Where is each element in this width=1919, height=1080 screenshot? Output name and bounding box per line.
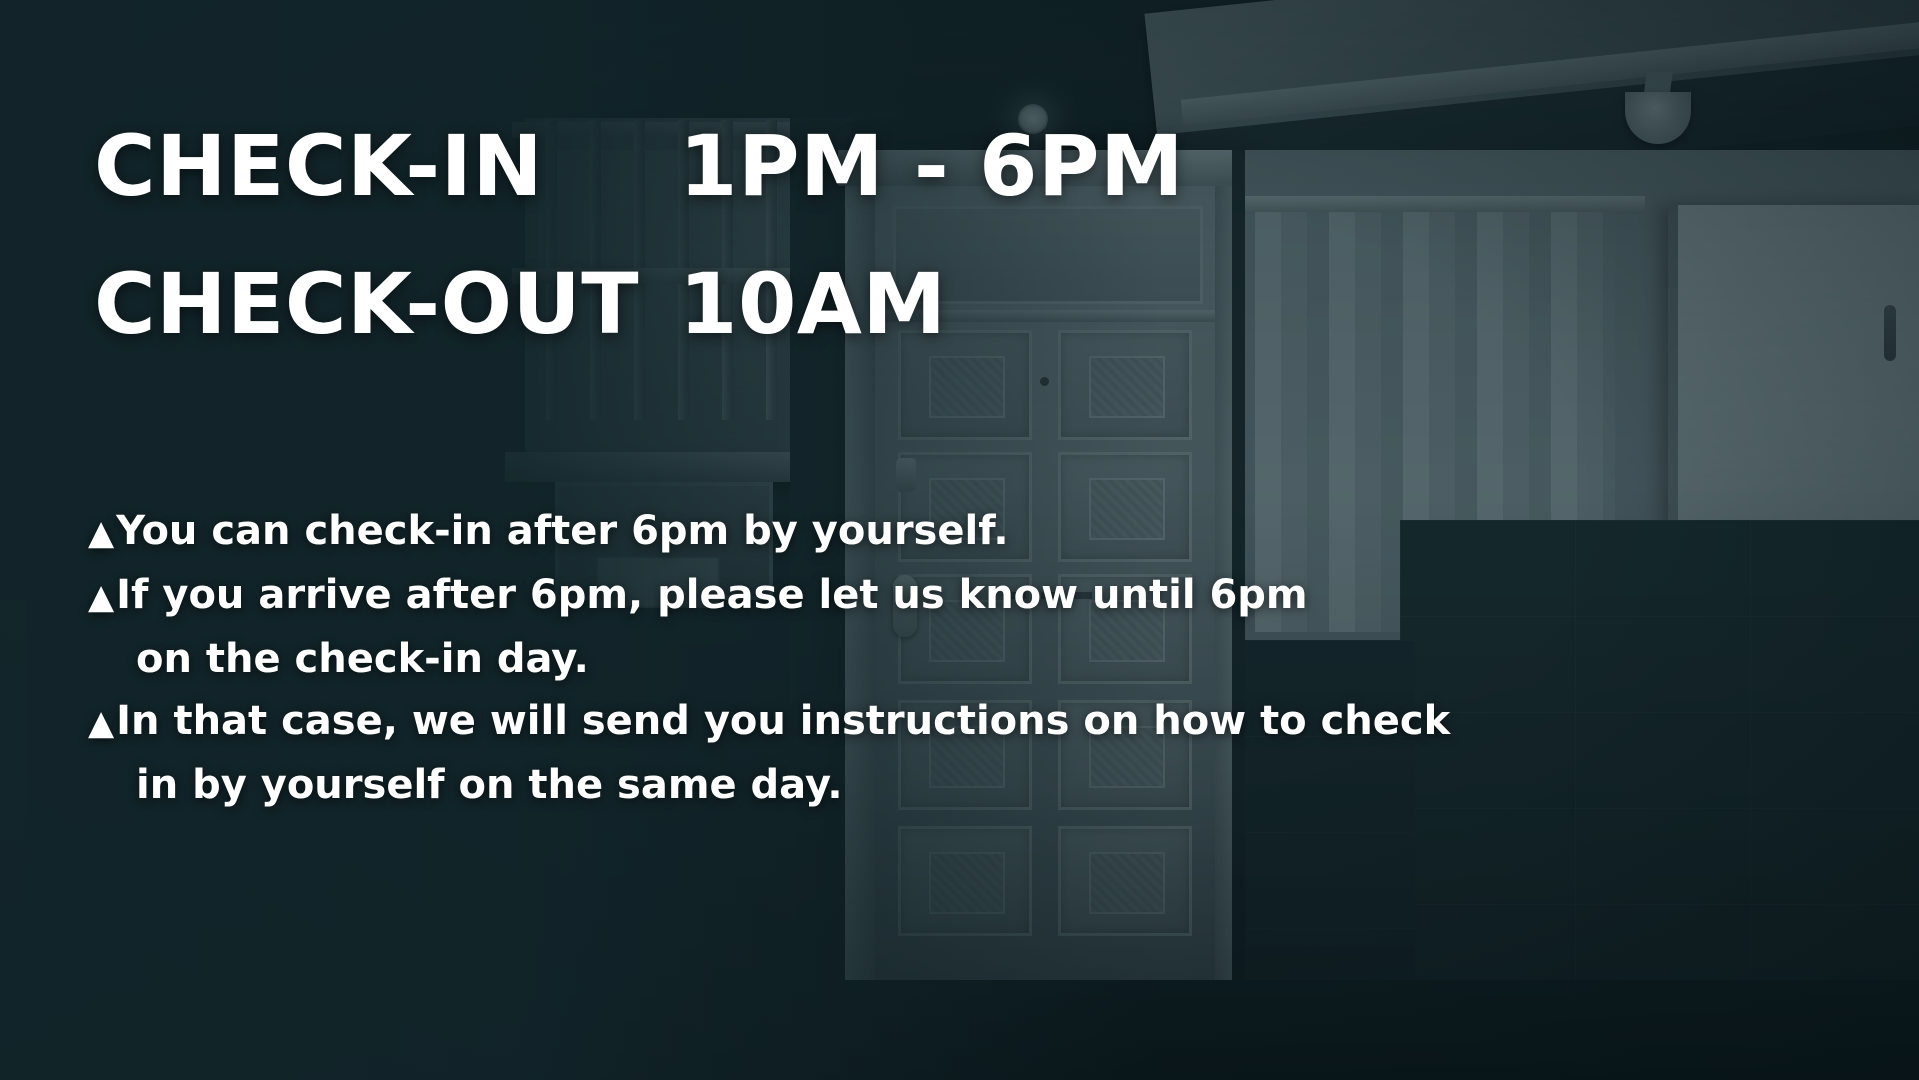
note-text: on the check-in day.	[136, 636, 589, 682]
notes-block: ▲You can check-in after 6pm by yourself.…	[88, 500, 1788, 816]
check-out-label: CHECK-OUT	[94, 262, 679, 346]
note-line: ▲In that case, we will send you instruct…	[88, 690, 1788, 754]
check-out-time: 10AM	[679, 262, 947, 346]
note-text: In that case, we will send you instructi…	[116, 698, 1450, 744]
note-line-continuation: in by yourself on the same day.	[88, 754, 1788, 816]
note-text: in by yourself on the same day.	[136, 762, 843, 808]
headline-block: CHECK-IN 1PM - 6PM CHECK-OUT 10AM	[94, 124, 1184, 346]
triangle-bullet-icon: ▲	[88, 566, 114, 628]
check-in-info-card: CHECK-IN 1PM - 6PM CHECK-OUT 10AM ▲You c…	[0, 0, 1919, 1080]
check-in-label: CHECK-IN	[94, 124, 679, 208]
poster-content: CHECK-IN 1PM - 6PM CHECK-OUT 10AM ▲You c…	[0, 0, 1919, 1080]
note-line-continuation: on the check-in day.	[88, 628, 1788, 690]
headline-row-check-in: CHECK-IN 1PM - 6PM	[94, 124, 1184, 208]
triangle-bullet-icon: ▲	[88, 692, 114, 754]
triangle-bullet-icon: ▲	[88, 502, 114, 564]
headline-row-check-out: CHECK-OUT 10AM	[94, 262, 1184, 346]
note-text: You can check-in after 6pm by yourself.	[116, 508, 1008, 554]
check-in-time: 1PM - 6PM	[679, 124, 1184, 208]
note-line: ▲You can check-in after 6pm by yourself.	[88, 500, 1788, 564]
note-text: If you arrive after 6pm, please let us k…	[116, 572, 1307, 618]
note-line: ▲If you arrive after 6pm, please let us …	[88, 564, 1788, 628]
